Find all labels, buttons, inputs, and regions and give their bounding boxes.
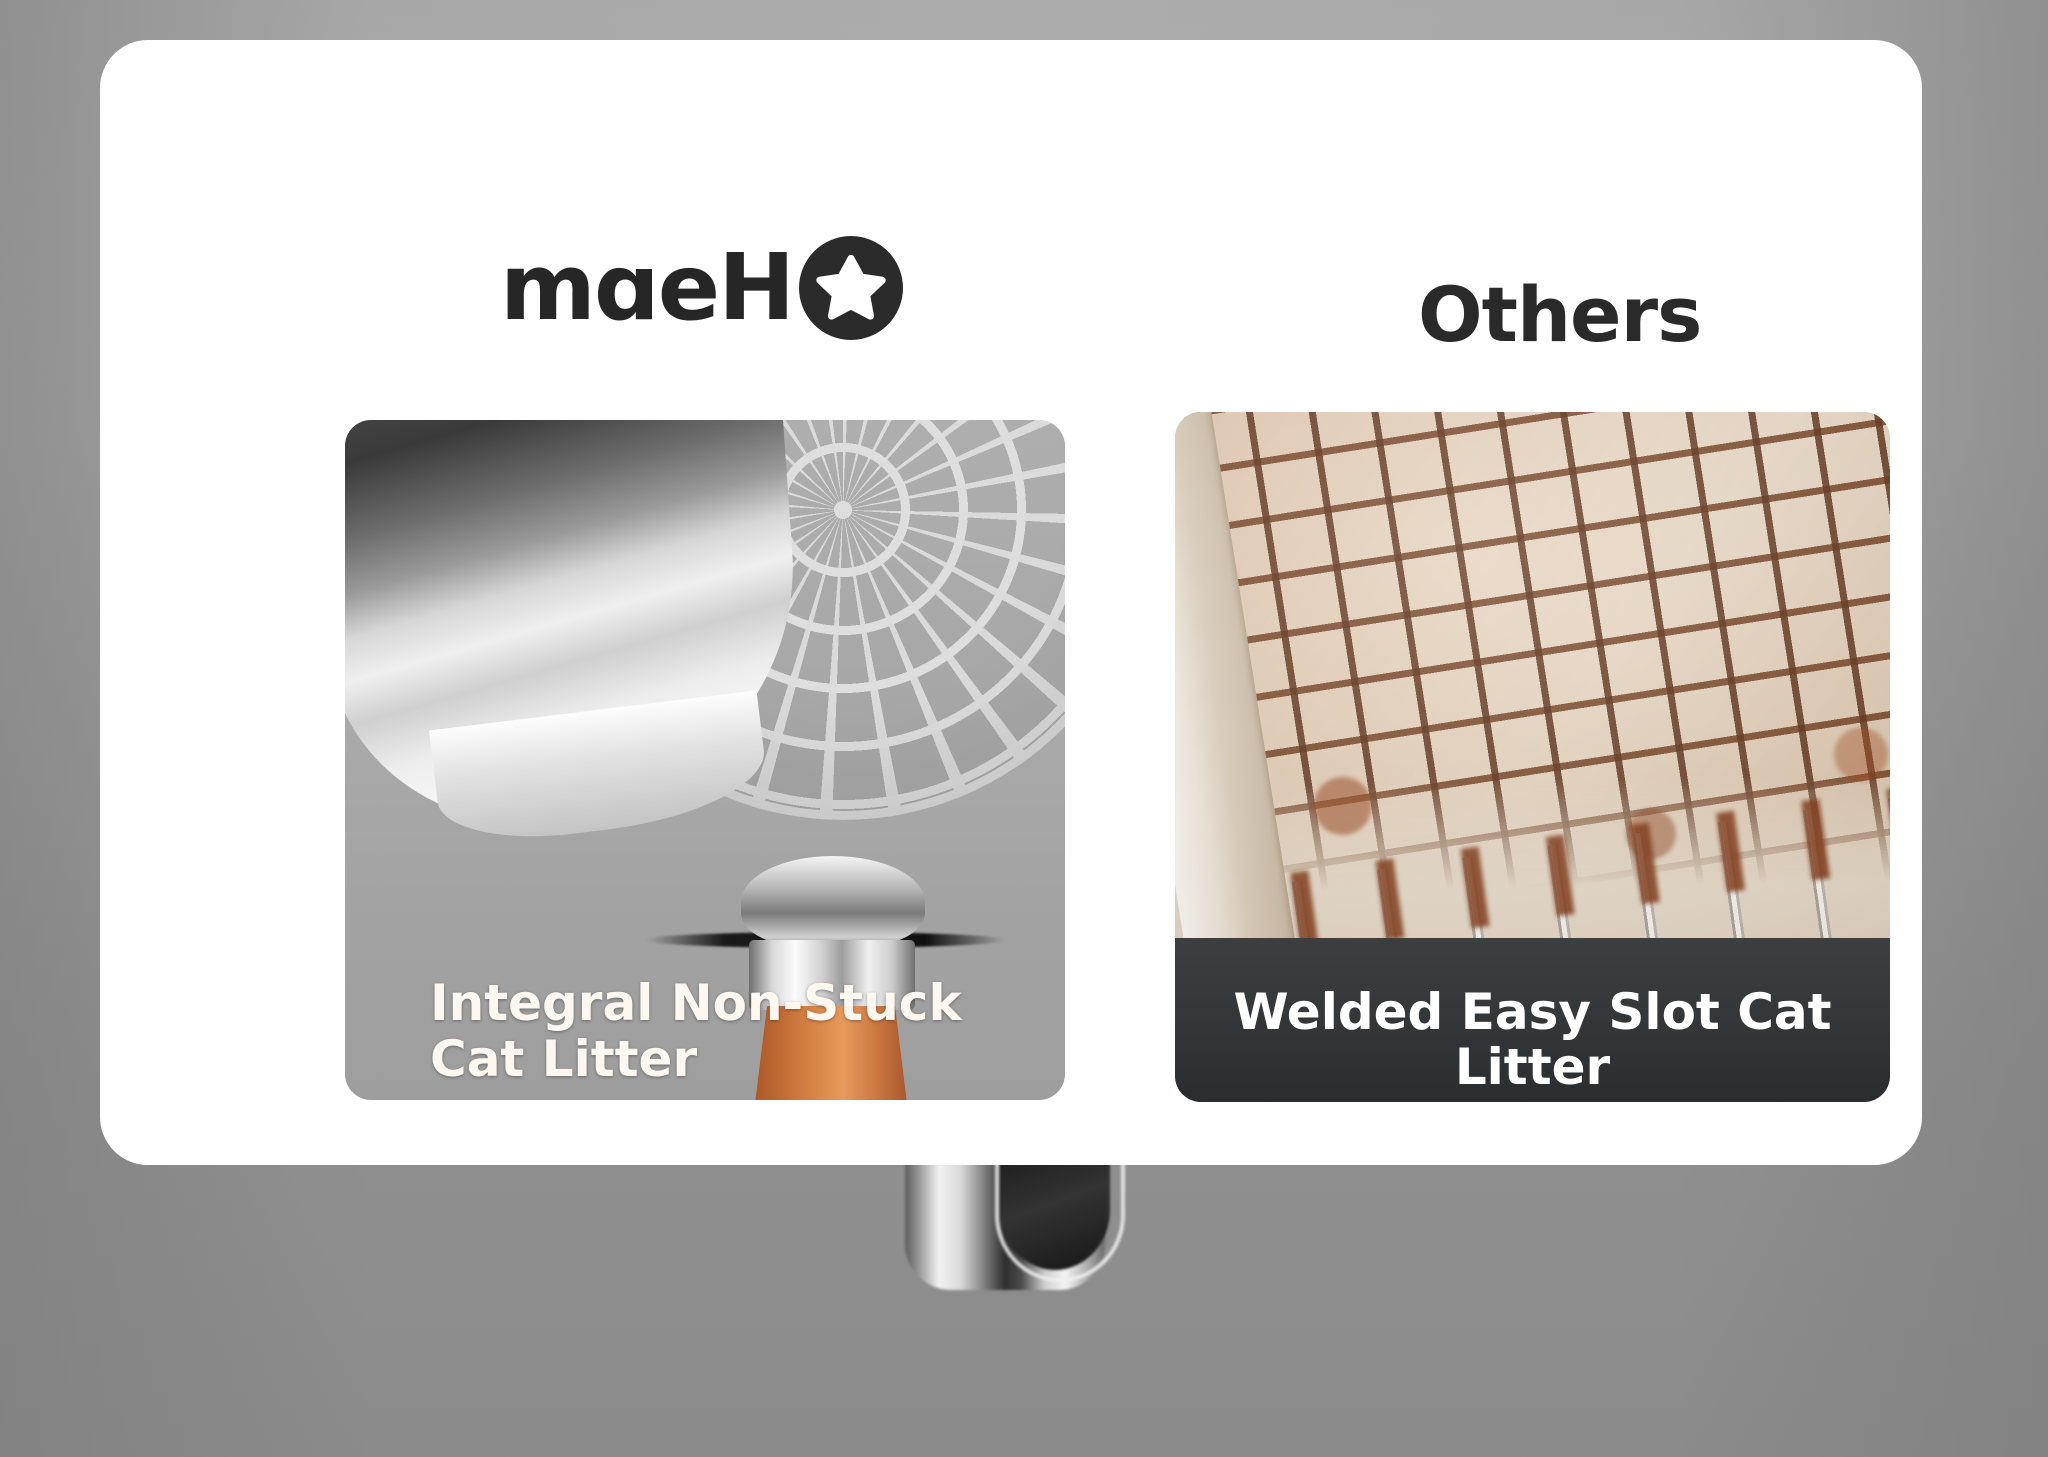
others-title: Others <box>1418 270 1701 359</box>
chrome-ferrule-rim <box>995 1148 1125 1282</box>
comparison-card: mɑeH Others Integral Non-Stuck Cat Litte… <box>100 40 1922 1165</box>
brand-logo-text: mɑeH <box>500 242 793 334</box>
brand-logo: mɑeH <box>500 236 903 340</box>
product-panel-right: Welded Easy Slot Cat Litter <box>1175 412 1890 1102</box>
caption-right: Welded Easy Slot Cat Litter <box>1175 985 1890 1095</box>
star-in-circle-icon <box>799 236 903 340</box>
chrome-cap-icon <box>741 856 925 948</box>
caption-left: Integral Non-Stuck Cat Litter <box>430 975 990 1087</box>
